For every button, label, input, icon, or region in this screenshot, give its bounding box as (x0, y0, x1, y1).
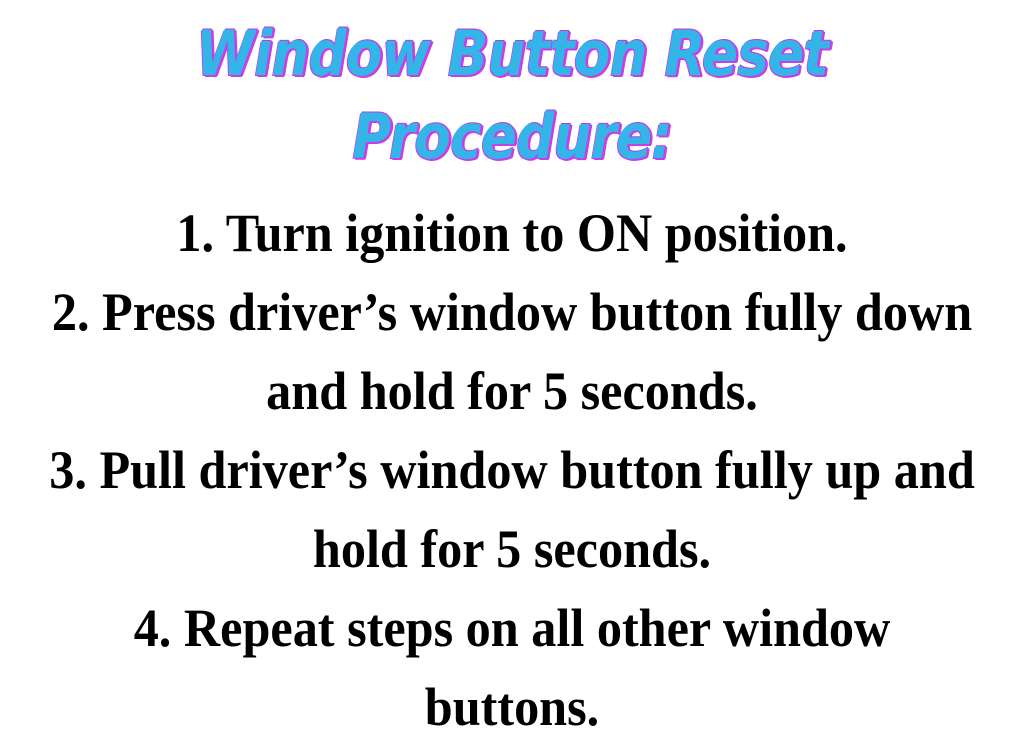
step-line-7: buttons. (36, 668, 988, 747)
title-block: Window Button Reset Procedure: (0, 12, 1024, 178)
steps-block: 1. Turn ignition to ON position. 2. Pres… (0, 194, 1024, 747)
step-line-1: 1. Turn ignition to ON position. (36, 194, 988, 273)
title-line-2: Procedure: (72, 95, 953, 178)
step-line-5: hold for 5 seconds. (36, 510, 988, 589)
step-line-2: 2. Press driver’s window button fully do… (36, 273, 988, 352)
instruction-card: Window Button Reset Procedure: 1. Turn i… (0, 0, 1024, 731)
step-line-6: 4. Repeat steps on all other window (36, 589, 988, 668)
step-line-3: and hold for 5 seconds. (36, 352, 988, 431)
title-line-1: Window Button Reset (72, 12, 953, 95)
step-line-4: 3. Pull driver’s window button fully up … (36, 431, 988, 510)
